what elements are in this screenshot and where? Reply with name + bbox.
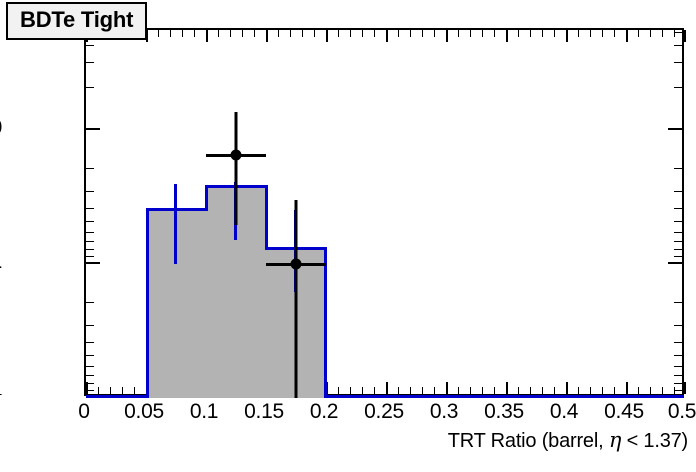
x-tick-minor <box>530 387 531 394</box>
y-tick-minor <box>86 390 94 391</box>
x-tick-minor-top <box>242 30 243 37</box>
legend-box[interactable]: BDTe Tight <box>6 2 147 40</box>
x-tick-label-8: 0.4 <box>550 400 578 424</box>
y-tick-minor-right <box>674 256 682 257</box>
y-tick-minor <box>86 168 94 169</box>
x-axis-title-prefix: TRT Ratio (barrel, <box>448 430 609 452</box>
x-tick-minor-top <box>218 30 219 37</box>
x-tick-minor-top <box>398 30 399 37</box>
histogram-outline-riser-2-3 <box>265 185 268 250</box>
y-tick-minor <box>86 342 94 343</box>
y-tick-minor <box>86 62 94 63</box>
x-tick-minor-top <box>602 30 603 37</box>
x-tick-major-top <box>326 30 328 42</box>
eta-symbol: η <box>609 428 621 452</box>
x-tick-minor-top <box>170 30 171 37</box>
y-tick-minor <box>86 191 94 192</box>
x-tick-label-1: 0.05 <box>124 400 164 424</box>
x-tick-major-top <box>206 30 208 42</box>
x-tick-major-top <box>566 30 568 42</box>
x-tick-minor <box>410 387 411 394</box>
x-tick-minor-top <box>194 30 195 37</box>
x-tick-minor <box>662 387 663 394</box>
y-tick-minor <box>86 241 94 242</box>
histogram-outline-riser-1-2 <box>205 185 208 211</box>
y-tick-minor-right <box>674 62 682 63</box>
x-tick-major <box>386 382 388 394</box>
x-tick-minor-top <box>254 30 255 37</box>
x-tick-minor <box>650 387 651 394</box>
x-tick-minor-top <box>158 30 159 37</box>
y-tick-minor-right <box>674 355 682 356</box>
histogram-outline-top-bin-1 <box>146 208 208 211</box>
y-tick-minor <box>86 45 94 46</box>
x-tick-minor <box>134 387 135 394</box>
y-tick-minor <box>86 208 94 209</box>
y-tick-minor-right <box>674 221 682 222</box>
y-tick-label-1: 1 <box>0 250 2 274</box>
x-tick-minor <box>350 387 351 394</box>
y-tick-major <box>86 128 100 130</box>
y-tick-minor-right <box>674 325 682 326</box>
y-tick-label-10: 10 <box>0 116 2 140</box>
x-tick-major <box>506 382 508 394</box>
x-tick-label-9: 0.45 <box>604 400 644 424</box>
x-tick-major-top <box>386 30 388 42</box>
y-tick-minor <box>86 221 94 222</box>
plot-frame <box>84 28 684 396</box>
y-tick-label-0p1: 10-1 <box>0 383 2 409</box>
x-tick-minor-top <box>662 30 663 37</box>
plot-canvas: 0 0.05 0.1 0.15 0.2 0.25 0.3 0.35 0.4 0.… <box>0 0 696 472</box>
x-tick-minor <box>122 387 123 394</box>
x-tick-minor-top <box>482 30 483 37</box>
y-tick-major-right <box>668 128 682 130</box>
x-axis-title: TRT Ratio (barrel, η < 1.37) <box>448 428 688 453</box>
histogram-error-bar-bin-1 <box>174 184 177 264</box>
x-tick-minor-top <box>350 30 351 37</box>
y-tick-label-exponent: -1 <box>0 383 2 398</box>
x-tick-minor-top <box>590 30 591 37</box>
x-tick-label-5: 0.25 <box>364 400 404 424</box>
x-tick-minor-top <box>182 30 183 37</box>
data-point-error-bar-vertical-2 <box>295 200 298 398</box>
y-tick-minor-right <box>674 249 682 250</box>
x-tick-major <box>566 382 568 394</box>
x-tick-minor <box>470 387 471 394</box>
x-tick-major-top <box>684 30 686 42</box>
x-tick-minor <box>602 387 603 394</box>
x-tick-minor-top <box>278 30 279 37</box>
x-tick-minor <box>110 387 111 394</box>
y-tick-minor-right <box>674 232 682 233</box>
x-tick-major <box>626 382 628 394</box>
x-tick-label-10: 0.5 <box>668 400 696 424</box>
y-tick-minor-right <box>674 191 682 192</box>
y-tick-minor <box>86 366 94 367</box>
y-tick-minor <box>86 375 94 376</box>
x-tick-minor-top <box>578 30 579 37</box>
y-tick-minor-right <box>674 390 682 391</box>
histogram-outline-left-edge <box>146 208 149 398</box>
x-tick-minor-top <box>362 30 363 37</box>
data-point-marker-2 <box>291 259 302 270</box>
legend-label: BDTe Tight <box>20 7 133 33</box>
x-tick-minor-top <box>554 30 555 37</box>
x-tick-minor-top <box>650 30 651 37</box>
y-tick-minor-right <box>674 383 682 384</box>
y-tick-minor-right <box>674 32 682 33</box>
y-tick-major <box>86 262 100 264</box>
x-tick-minor <box>434 387 435 394</box>
y-tick-minor <box>86 232 94 233</box>
x-tick-minor-top <box>410 30 411 37</box>
y-tick-minor-right <box>674 302 682 303</box>
x-tick-minor <box>374 387 375 394</box>
x-tick-minor-top <box>314 30 315 37</box>
x-tick-minor <box>638 387 639 394</box>
x-tick-minor-top <box>494 30 495 37</box>
x-tick-major-top <box>446 30 448 42</box>
x-tick-minor-top <box>470 30 471 37</box>
x-tick-minor <box>458 387 459 394</box>
x-tick-minor-top <box>638 30 639 37</box>
histogram-outline-right-edge <box>324 247 327 398</box>
x-tick-minor-top <box>458 30 459 37</box>
y-tick-minor-right <box>674 45 682 46</box>
x-tick-major-top <box>506 30 508 42</box>
data-point-marker-1 <box>231 150 242 161</box>
y-tick-minor <box>86 87 94 88</box>
data-point-error-bar-vertical-1 <box>235 112 238 225</box>
x-tick-minor-top <box>434 30 435 37</box>
x-tick-minor <box>554 387 555 394</box>
y-tick-minor <box>86 325 94 326</box>
x-tick-minor <box>482 387 483 394</box>
x-tick-minor-top <box>614 30 615 37</box>
x-tick-minor <box>422 387 423 394</box>
y-tick-minor <box>86 256 94 257</box>
x-tick-minor-top <box>290 30 291 37</box>
x-tick-minor-top <box>338 30 339 37</box>
x-tick-minor <box>578 387 579 394</box>
x-tick-label-3: 0.15 <box>244 400 284 424</box>
y-tick-minor-right <box>674 87 682 88</box>
y-tick-minor <box>86 302 94 303</box>
y-tick-minor-right <box>674 168 682 169</box>
y-tick-minor <box>86 249 94 250</box>
y-tick-minor-right <box>674 342 682 343</box>
histogram-baseline-left <box>86 395 147 398</box>
x-tick-label-6: 0.3 <box>430 400 458 424</box>
x-tick-major-top <box>626 30 628 42</box>
x-tick-minor <box>362 387 363 394</box>
x-tick-major <box>446 382 448 394</box>
histogram-baseline-right <box>325 395 684 398</box>
x-tick-minor-top <box>374 30 375 37</box>
y-tick-minor-right <box>674 241 682 242</box>
x-tick-major-top <box>266 30 268 42</box>
x-tick-minor <box>614 387 615 394</box>
x-axis-title-suffix: < 1.37) <box>621 430 688 452</box>
x-tick-minor <box>518 387 519 394</box>
x-tick-minor <box>338 387 339 394</box>
y-tick-minor-right <box>674 375 682 376</box>
x-tick-minor-top <box>530 30 531 37</box>
x-tick-label-0: 0 <box>78 400 89 424</box>
x-tick-minor <box>398 387 399 394</box>
x-tick-minor <box>542 387 543 394</box>
x-tick-major <box>684 382 686 394</box>
y-tick-minor <box>86 355 94 356</box>
x-tick-label-4: 0.2 <box>310 400 338 424</box>
x-tick-minor-top <box>542 30 543 37</box>
y-tick-minor-right <box>674 208 682 209</box>
y-tick-minor <box>86 383 94 384</box>
x-tick-minor-top <box>302 30 303 37</box>
x-tick-label-7: 0.35 <box>484 400 524 424</box>
y-tick-minor-right <box>674 366 682 367</box>
x-tick-label-2: 0.1 <box>190 400 218 424</box>
x-tick-minor <box>494 387 495 394</box>
x-tick-minor <box>98 387 99 394</box>
x-tick-minor-top <box>422 30 423 37</box>
x-tick-minor-top <box>518 30 519 37</box>
x-tick-minor <box>590 387 591 394</box>
y-tick-major-right <box>668 262 682 264</box>
x-tick-minor-top <box>230 30 231 37</box>
